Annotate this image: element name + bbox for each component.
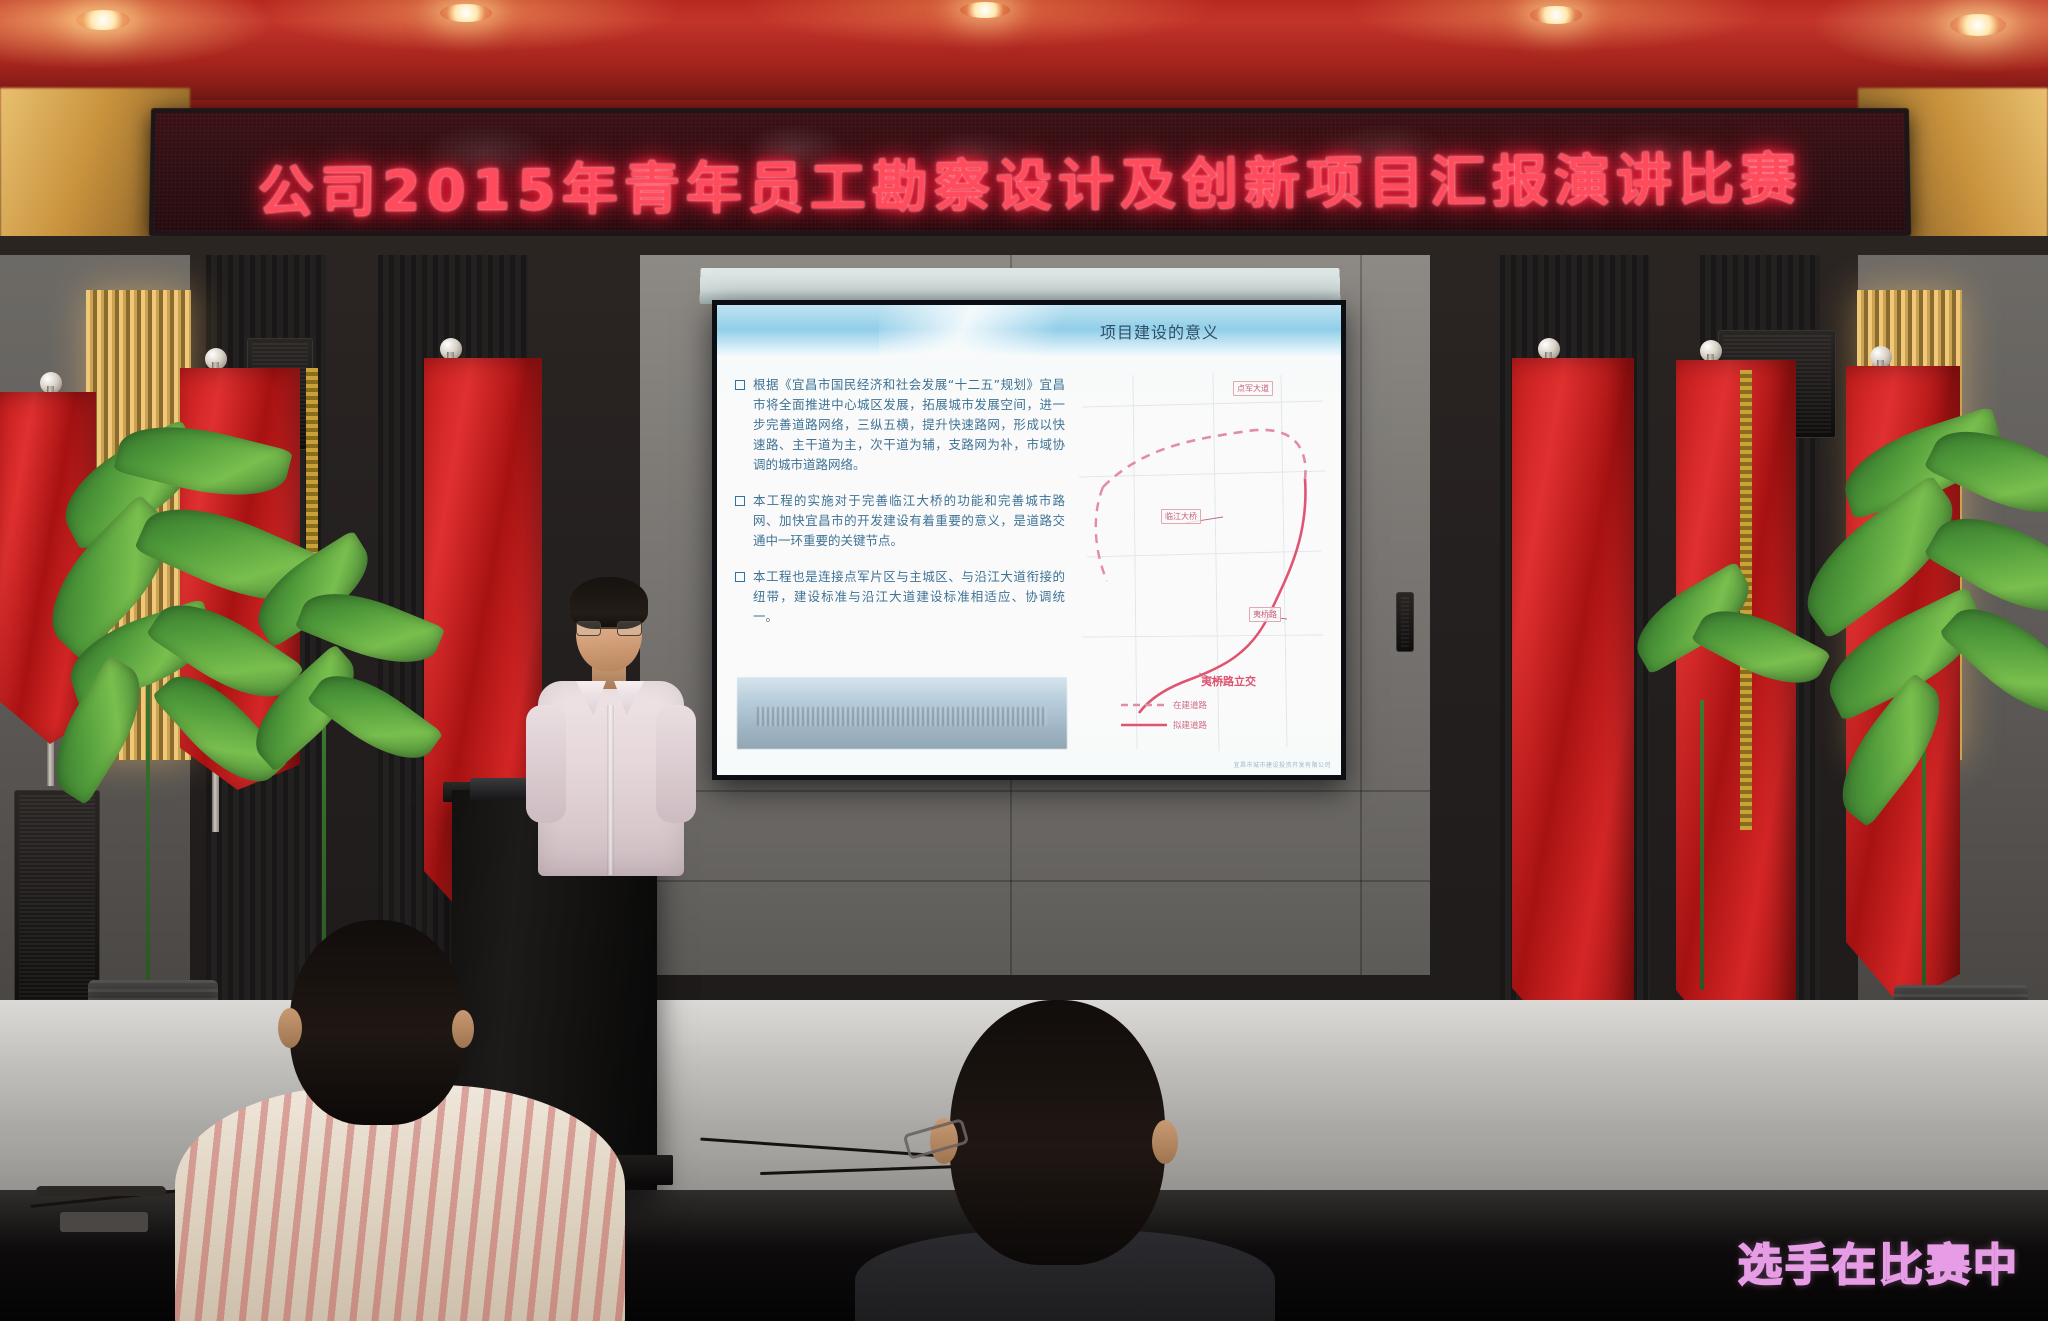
ceiling-downlight [960, 2, 1010, 18]
slide-route-map: 点军大道 临江大桥 夷桥路 夷桥路立交 在建道路 拟建道路 [1073, 367, 1335, 757]
plant-stem [1700, 700, 1704, 990]
legend-label: 在建道路 [1173, 699, 1207, 711]
audience-head [950, 1000, 1165, 1265]
presenter [520, 555, 700, 895]
checkbox-bullet-icon [735, 572, 745, 582]
map-legend: 在建道路 拟建道路 [1121, 699, 1207, 731]
slide-footer-text: 宜昌市城市建设投资开发有限公司 [1233, 760, 1331, 769]
bullet-text: 本工程也是连接点军片区与主城区、与沿江大道衔接的纽带，建设标准与沿江大道建设标准… [753, 567, 1065, 627]
list-item: 本工程也是连接点军片区与主城区、与沿江大道衔接的纽带，建设标准与沿江大道建设标准… [735, 567, 1065, 627]
map-label-yiqiao-interchange: 夷桥路立交 [1201, 673, 1256, 689]
speaker-grill [19, 795, 95, 1015]
presentation-slide: 项目建设的意义 根据《宜昌市国民经济和社会发展“十二五”规划》宜昌市将全面推进中… [717, 305, 1341, 775]
legend-solid-line-icon [1121, 723, 1167, 727]
projector-screen-housing [699, 268, 1340, 304]
legend-item-planned: 拟建道路 [1121, 719, 1207, 731]
checkbox-bullet-icon [735, 496, 745, 506]
wall-seam [640, 880, 1430, 882]
wall-seam [640, 790, 1430, 792]
watermark-caption: 选手在比赛中 [1738, 1229, 2020, 1293]
ceiling-downlight [1530, 6, 1582, 24]
legend-dashed-line-icon [1121, 703, 1167, 707]
desk-microphone [36, 1186, 166, 1196]
ceiling-downlight [76, 10, 130, 30]
map-label-yiqiao-road: 夷桥路 [1249, 607, 1281, 622]
audience-ear [278, 1008, 302, 1048]
presenter-sleeve-right [656, 705, 696, 823]
list-item: 本工程的实施对于完善临江大桥的功能和完善城市路网、加快宜昌市的开发建设有着重要的… [735, 491, 1065, 551]
audience-ear [452, 1010, 474, 1048]
red-flag [1676, 360, 1796, 1060]
bullet-text: 根据《宜昌市国民经济和社会发展“十二五”规划》宜昌市将全面推进中心城区发展，拓展… [753, 375, 1065, 475]
ceiling-downlight [1950, 14, 2006, 36]
wall-speaker-small [1396, 592, 1414, 652]
legend-item-under-construction: 在建道路 [1121, 699, 1207, 711]
audience-ear [1152, 1120, 1178, 1164]
slide-bullet-list: 根据《宜昌市国民经济和社会发展“十二五”规划》宜昌市将全面推进中心城区发展，拓展… [735, 375, 1065, 643]
ceiling-downlight [440, 4, 492, 22]
led-banner: 公司2015年青年员工勘察设计及创新项目汇报演讲比赛 [149, 108, 1911, 236]
slide-header-bar [717, 305, 1341, 359]
presenter-shirt-placket [607, 705, 614, 875]
list-item: 根据《宜昌市国民经济和社会发展“十二五”规划》宜昌市将全面推进中心城区发展，拓展… [735, 375, 1065, 475]
slide-bridge-photo [737, 677, 1067, 749]
eyeglass-lens-left [576, 621, 601, 636]
speaker-grill [1401, 597, 1409, 647]
bullet-text: 本工程的实施对于完善临江大桥的功能和完善城市路网、加快宜昌市的开发建设有着重要的… [753, 491, 1065, 551]
projection-screen[interactable]: 项目建设的意义 根据《宜昌市国民经济和社会发展“十二五”规划》宜昌市将全面推进中… [712, 300, 1346, 780]
desk-microphone-base [60, 1212, 148, 1232]
map-label-linjiang-bridge: 临江大桥 [1161, 509, 1201, 524]
wall-seam [1360, 255, 1362, 975]
legend-label: 拟建道路 [1173, 719, 1207, 731]
red-flag [1512, 358, 1634, 1058]
led-banner-text: 公司2015年青年员工勘察设计及创新项目汇报演讲比赛 [154, 133, 1906, 229]
presenter-sleeve-left [526, 705, 566, 823]
conference-hall-scene: 公司2015年青年员工勘察设计及创新项目汇报演讲比赛 项目建设的意义 [0, 0, 2048, 1321]
map-label-dianjun-road: 点军大道 [1233, 381, 1273, 396]
presenter-eyeglasses [576, 621, 642, 636]
plant-stem [146, 640, 150, 980]
checkbox-bullet-icon [735, 380, 745, 390]
eyeglass-lens-right [617, 621, 642, 636]
slide-title: 项目建设的意义 [1100, 319, 1219, 343]
eyeglass-bridge [601, 627, 617, 629]
audience-head [290, 920, 465, 1125]
